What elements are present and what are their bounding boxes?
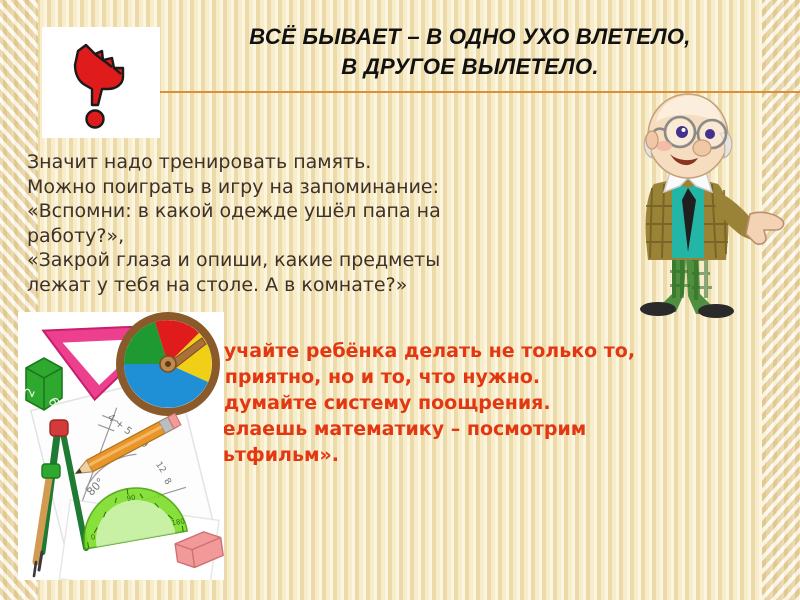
professor-cartoon-image xyxy=(614,88,794,320)
school-supplies-illustration: 80° 4 + 5 = 9 12 8 4 2 6 xyxy=(18,312,224,580)
red-pointing-hand-exclamation-icon xyxy=(42,27,160,138)
body-text-paragraph: Значит надо тренировать память. Можно по… xyxy=(27,150,497,297)
professor-illustration xyxy=(614,88,794,320)
slide-title: ВСЁ БЫВАЕТ – В ОДНО УХО ВЛЕТЕЛО, В ДРУГО… xyxy=(150,22,790,82)
school-supplies-image: 80° 4 + 5 = 9 12 8 4 2 6 xyxy=(18,312,224,580)
red-advice-text: Приучайте ребёнка делать не только то, ч… xyxy=(181,338,651,468)
svg-text:90: 90 xyxy=(126,493,136,502)
slide-canvas: ВСЁ БЫВАЕТ – В ОДНО УХО ВЛЕТЕЛО, В ДРУГО… xyxy=(0,0,800,600)
red-hand-icon-card xyxy=(42,27,160,138)
